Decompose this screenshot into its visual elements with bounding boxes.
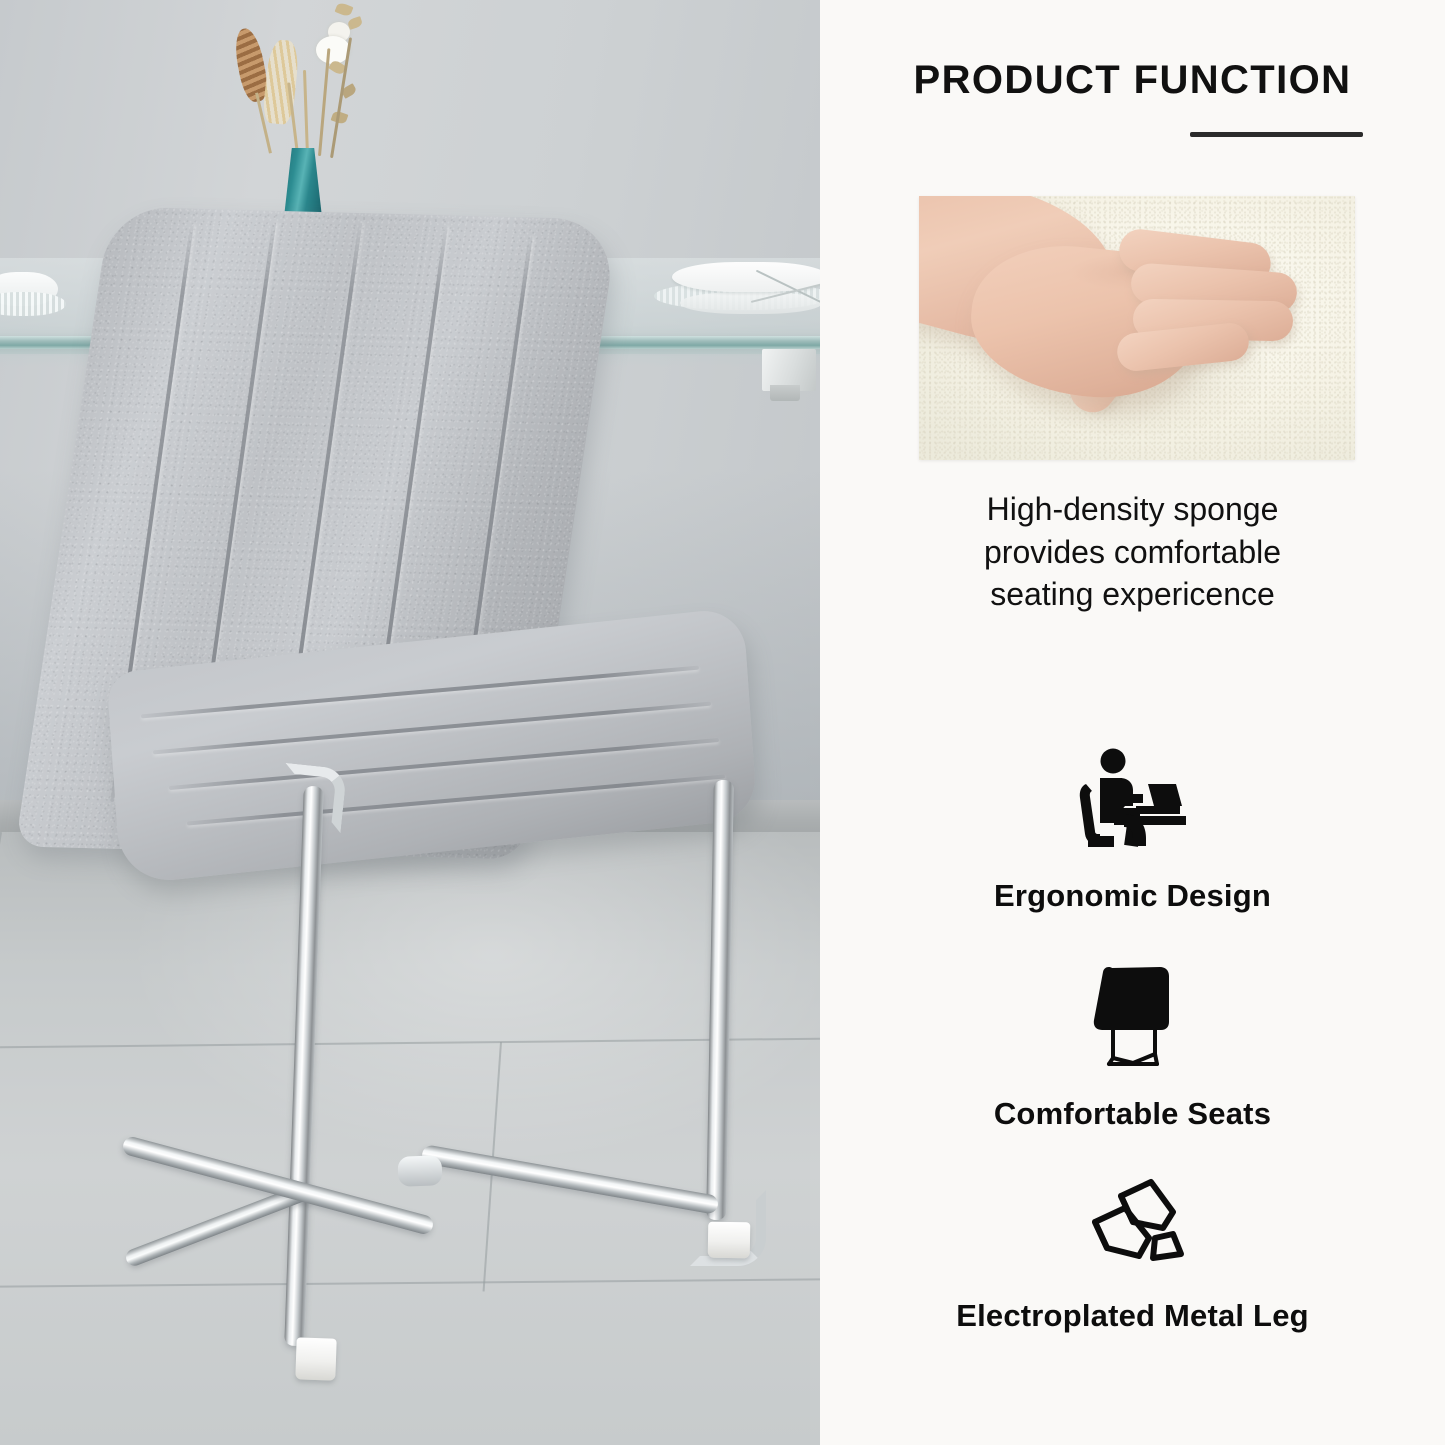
- caption-line-2: provides comfortable: [820, 531, 1445, 574]
- floor-cap: [295, 1337, 336, 1380]
- chrome-base-apex: [397, 1155, 442, 1187]
- feature-label: Ergonomic Design: [820, 878, 1445, 914]
- sponge-density-photo: [919, 196, 1355, 460]
- chair-silhouette-icon: [820, 960, 1445, 1070]
- sponge-caption: High-density sponge provides comfortable…: [820, 488, 1445, 616]
- chrome-base-runner: [121, 1135, 435, 1236]
- feature-electroplated-metal-leg: Electroplated Metal Leg: [820, 1172, 1445, 1334]
- product-infographic: PRODUCT FUNCTION High-density sponge pro…: [0, 0, 1445, 1445]
- chrome-front-leg: [284, 786, 324, 1346]
- page-title: PRODUCT FUNCTION: [820, 58, 1445, 103]
- chrome-back-leg: [706, 780, 734, 1220]
- metal-ingots-icon: [820, 1172, 1445, 1272]
- caption-line-3: seating expericence: [820, 573, 1445, 616]
- chrome-base-runner: [421, 1144, 720, 1215]
- feature-comfortable-seats: Comfortable Seats: [820, 960, 1445, 1132]
- title-underline: [1190, 132, 1363, 137]
- dining-chair: [0, 0, 820, 1445]
- feature-ergonomic-design: Ergonomic Design: [820, 748, 1445, 914]
- caption-line-1: High-density sponge: [820, 488, 1445, 531]
- product-photo: [0, 0, 820, 1445]
- feature-label: Comfortable Seats: [820, 1096, 1445, 1132]
- floor-cap: [708, 1222, 751, 1259]
- person-sitting-at-desk-icon: [820, 748, 1445, 852]
- feature-label: Electroplated Metal Leg: [820, 1298, 1445, 1334]
- feature-panel: PRODUCT FUNCTION High-density sponge pro…: [820, 0, 1445, 1445]
